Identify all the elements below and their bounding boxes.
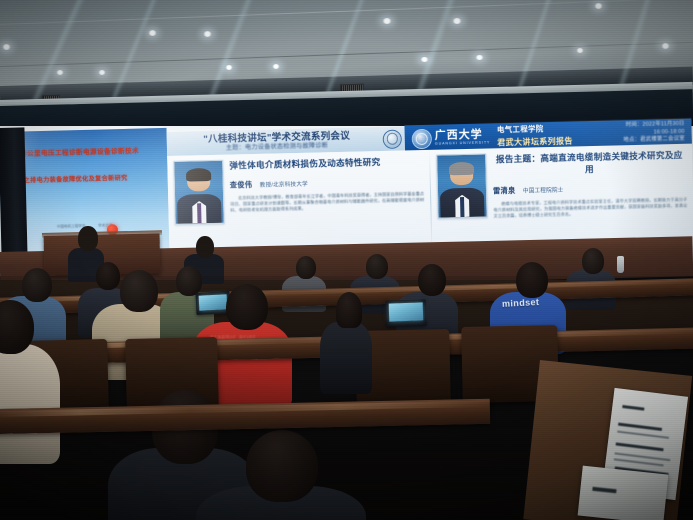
talk-title-prefix-right: 报告主题：	[496, 153, 541, 164]
person-torso	[320, 322, 372, 394]
ceiling-downlight	[272, 64, 280, 69]
ceiling-downlight	[148, 30, 157, 36]
water-bottle	[617, 256, 624, 273]
portrait-tie	[460, 197, 465, 217]
person-head	[176, 266, 202, 296]
aux-slide-line2: 之排电力装备故障优化及复合新研究	[24, 174, 164, 186]
speaker-name-left: 查俊伟	[230, 180, 253, 190]
speaker-affiliation-right: 中国工程院院士	[523, 188, 564, 195]
wall-column	[0, 127, 28, 258]
ceiling-downlight	[420, 57, 429, 62]
talk-title-left: 弹性体电介质材料损伤及动态特性研究	[229, 155, 423, 172]
person-head	[120, 270, 158, 312]
talk-text-left: 弹性体电介质材料损伤及动态特性研究 查俊伟 教授/北京科技大学 北京科技大学教授…	[229, 155, 425, 257]
header-school-block: 电气工程学院 君武大讲坛系列报告	[497, 125, 573, 147]
handout-line	[617, 431, 669, 439]
speaker-name-right: 雷清泉	[493, 186, 516, 196]
person-head	[226, 284, 268, 330]
speaker-line-right: 雷清泉 中国工程院院士	[493, 176, 687, 199]
poster-slide: "八桂科技讲坛"学术交流系列会议 主题：电力设备状态检测与故障诊断 广西大学 G…	[166, 118, 693, 258]
person-head	[96, 262, 120, 290]
person-head	[336, 292, 362, 328]
speaker-bio-left: 北京科技大学教授/博导，教育部青年长江学者，中国青年科技奖获得者，主持国家自然科…	[230, 191, 424, 214]
handout-heading	[622, 405, 644, 411]
ceiling-downlight	[225, 65, 233, 70]
person-torso	[0, 344, 60, 464]
handout-footer	[592, 487, 616, 493]
ceiling-downlight	[661, 43, 670, 49]
university-name-en: GUANGXI UNIVERSITY	[435, 141, 490, 146]
header-meta-block: 时间：2022年11月30日 16:00-18:00 地点：君武楼第二会议室	[623, 121, 685, 145]
ceiling-downlight	[56, 70, 64, 75]
portrait-hair	[449, 162, 474, 175]
ceiling-downlight	[382, 18, 392, 24]
ceiling-downlight	[594, 3, 603, 9]
header-university-block: 广西大学 GUANGXI UNIVERSITY	[435, 129, 491, 146]
person-head	[366, 254, 388, 279]
portrait-tie	[197, 203, 202, 223]
laptop[interactable]	[386, 299, 427, 326]
speaker-portrait-right	[436, 153, 487, 218]
speaker-bio-right: 绝缘与电缆技术专家，工程电介质科学技术重点实验室主任，清华大学双聘教授。长期致力…	[493, 197, 687, 220]
speaker-line-left: 查俊伟 教授/北京科技大学	[230, 170, 424, 193]
presenter-head	[78, 226, 98, 251]
talk-block-right: 报告主题：高端直流电缆制造关键技术研究及应用 雷清泉 中国工程院院士 绝缘与电缆…	[430, 144, 693, 252]
presenter-head	[196, 236, 214, 258]
handout-line	[618, 423, 662, 431]
ceiling-downlight	[576, 48, 584, 53]
lecture-series-name: 君武大讲坛系列报告	[497, 137, 573, 147]
laptop-screen	[389, 302, 424, 321]
person-head	[296, 256, 316, 279]
university-name-cn: 广西大学	[435, 129, 491, 141]
ceiling-seam	[0, 0, 693, 25]
portrait-hair	[186, 168, 211, 181]
talk-title-text-right: 高端直流电缆制造关键技术研究及应用	[540, 150, 683, 174]
person-head	[582, 248, 604, 274]
jacket-text: mindset	[502, 297, 540, 309]
handout-line	[616, 442, 664, 451]
handout-paper-secondary[interactable]	[578, 466, 669, 520]
ceiling-downlight	[98, 70, 106, 75]
talk-text-right: 报告主题：高端直流电缆制造关键技术研究及应用 雷清泉 中国工程院院士 绝缘与电缆…	[492, 149, 688, 251]
person-head	[246, 430, 318, 502]
ceiling-downlight	[203, 31, 212, 37]
ceiling-downlight	[475, 55, 484, 60]
person-head	[516, 262, 548, 298]
laptop-screen	[199, 294, 228, 310]
university-seal-icon	[383, 129, 402, 148]
ceiling-downlight	[2, 44, 11, 50]
lecture-hall-photo: 二排公里电压工程诊断电源设备诊断技术 之排电力装备故障优化及复合新研究 中国电机…	[0, 0, 693, 520]
banner-title-block: "八桂科技讲坛"学术交流系列会议 主题：电力设备状态检测与故障诊断	[167, 129, 381, 153]
aux-slide-line1: 二排公里电压工程诊断电源设备诊断技术	[13, 146, 163, 160]
speaker-affiliation-left: 教授/北京科技大学	[260, 182, 308, 189]
speaker-portrait-left	[173, 160, 224, 225]
person-head	[22, 268, 52, 302]
school-name: 电气工程学院	[497, 125, 573, 134]
ceiling-downlight	[452, 18, 462, 24]
person-head	[418, 264, 446, 296]
talk-title-right: 报告主题：高端直流电缆制造关键技术研究及应用	[492, 149, 687, 178]
university-seal-icon	[412, 128, 432, 148]
